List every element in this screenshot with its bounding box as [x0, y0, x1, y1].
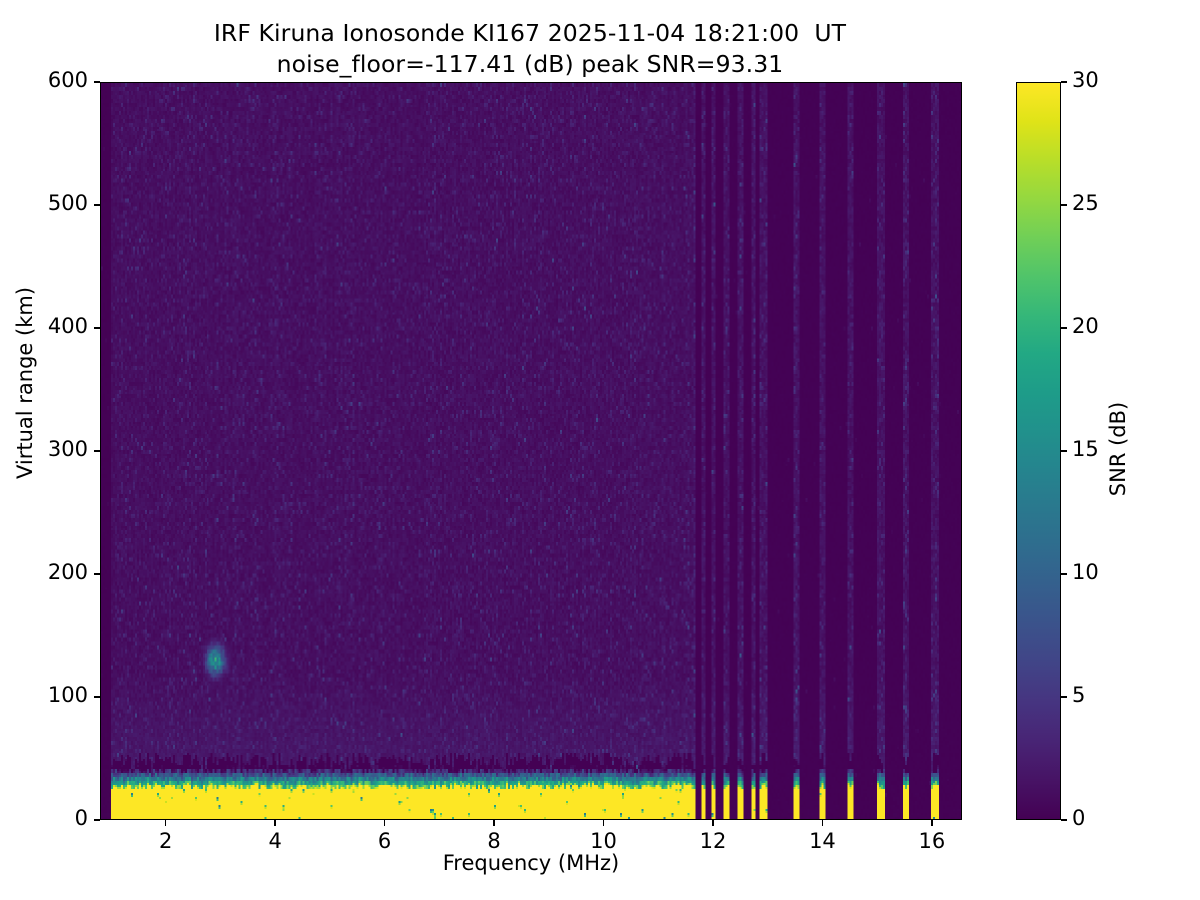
y-tick-label: 100 [0, 683, 88, 707]
colorbar-tick-label: 20 [1072, 314, 1099, 338]
colorbar[interactable] [1016, 82, 1061, 820]
colorbar-tick-mark [1061, 819, 1067, 820]
y-tick-mark [94, 696, 100, 697]
y-tick-mark [94, 204, 100, 205]
chart-title: IRF Kiruna Ionosonde KI167 2025-11-04 18… [0, 18, 1060, 79]
x-tick-mark [931, 820, 932, 826]
x-tick-mark [384, 820, 385, 826]
x-tick-label: 10 [564, 829, 644, 853]
x-tick-mark [493, 820, 494, 826]
x-tick-label: 4 [235, 829, 315, 853]
colorbar-tick-label: 0 [1072, 806, 1085, 830]
colorbar-label: SNR (dB) [1106, 389, 1130, 509]
x-tick-label: 16 [892, 829, 972, 853]
colorbar-tick-label: 25 [1072, 191, 1099, 215]
colorbar-tick-mark [1061, 81, 1067, 82]
x-tick-label: 6 [345, 829, 425, 853]
x-tick-label: 2 [126, 829, 206, 853]
x-tick-mark [822, 820, 823, 826]
colorbar-tick-mark [1061, 450, 1067, 451]
colorbar-tick-mark [1061, 327, 1067, 328]
y-tick-mark [94, 450, 100, 451]
colorbar-tick-label: 15 [1072, 437, 1099, 461]
y-tick-mark [94, 327, 100, 328]
title-line-2: noise_floor=-117.41 (dB) peak SNR=93.31 [0, 49, 1060, 80]
y-tick-mark [94, 573, 100, 574]
x-tick-label: 12 [673, 829, 753, 853]
colorbar-tick-label: 10 [1072, 560, 1099, 584]
colorbar-tick-mark [1061, 696, 1067, 697]
ionogram-figure: IRF Kiruna Ionosonde KI167 2025-11-04 18… [0, 0, 1200, 900]
y-tick-label: 200 [0, 560, 88, 584]
y-tick-mark [94, 819, 100, 820]
x-tick-label: 8 [454, 829, 534, 853]
x-tick-mark [712, 820, 713, 826]
x-tick-mark [603, 820, 604, 826]
colorbar-gradient [1017, 83, 1060, 819]
y-tick-mark [94, 81, 100, 82]
y-tick-label: 0 [0, 806, 88, 830]
y-tick-label: 500 [0, 191, 88, 215]
colorbar-tick-label: 5 [1072, 683, 1085, 707]
x-axis-label: Frequency (MHz) [100, 851, 962, 875]
colorbar-tick-mark [1061, 573, 1067, 574]
x-tick-label: 14 [782, 829, 862, 853]
heatmap-plot-area[interactable] [100, 82, 962, 820]
x-tick-mark [165, 820, 166, 826]
title-line-1: IRF Kiruna Ionosonde KI167 2025-11-04 18… [0, 18, 1060, 49]
colorbar-tick-label: 30 [1072, 68, 1099, 92]
y-tick-label: 600 [0, 68, 88, 92]
x-tick-mark [274, 820, 275, 826]
y-axis-label: Virtual range (km) [13, 419, 37, 479]
colorbar-tick-mark [1061, 204, 1067, 205]
ionogram-heatmap [101, 83, 961, 819]
